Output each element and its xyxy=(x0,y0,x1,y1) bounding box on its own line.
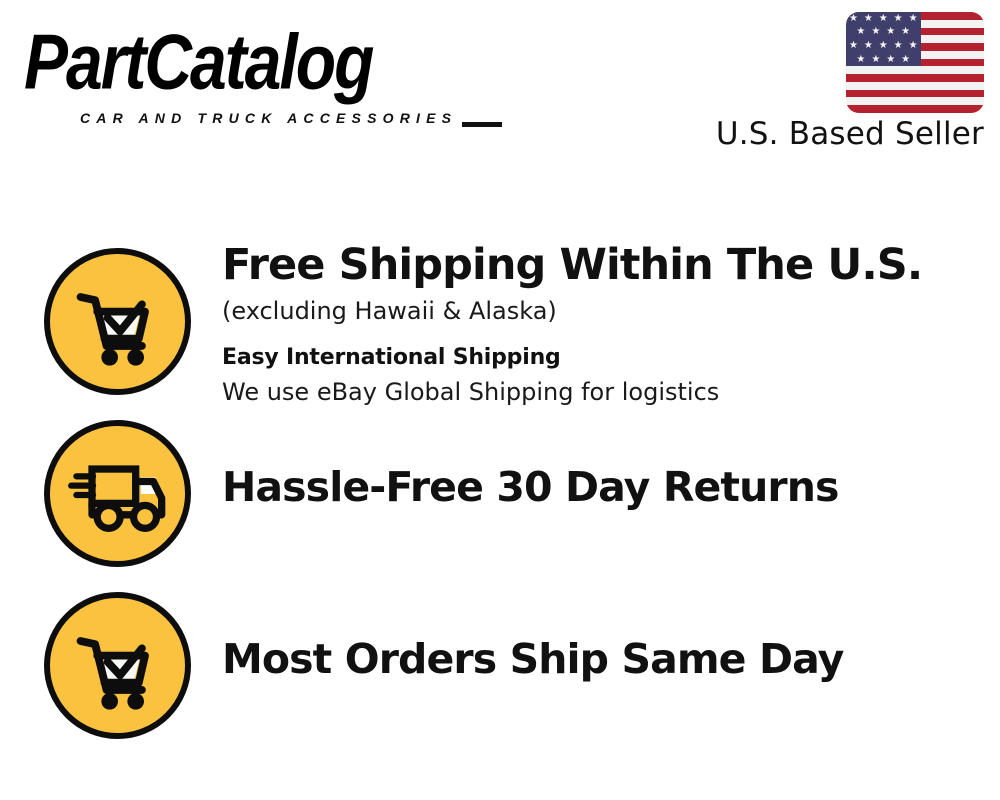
us-based-seller-badge: ★★★★★★★★★★★★★★★★★★ U.S. Based Seller xyxy=(714,12,984,152)
flag-star-icon: ★ xyxy=(886,27,895,37)
feature-subtext: (excluding Hawaii & Alaska) xyxy=(222,294,962,328)
flag-stripe xyxy=(846,66,984,74)
flag-star-icon: ★ xyxy=(894,14,903,24)
feature-heading: Hassle-Free 30 Day Returns xyxy=(222,462,962,512)
flag-star-icon: ★ xyxy=(849,14,858,24)
feature-heading: Most Orders Ship Same Day xyxy=(222,634,962,684)
brand-logo[interactable]: PartCatalog CAR AND TRUCK ACCESSORIES xyxy=(24,20,494,120)
brand-tagline: CAR AND TRUCK ACCESSORIES xyxy=(80,110,457,126)
us-flag-icon: ★★★★★★★★★★★★★★★★★★ xyxy=(846,12,984,113)
feature-subheading-detail: We use eBay Global Shipping for logistic… xyxy=(222,375,962,409)
delivery-truck-icon-badge xyxy=(44,420,191,567)
flag-stripe xyxy=(846,90,984,98)
feature-row: Free Shipping Within The U.S. (excluding… xyxy=(0,236,1000,408)
flag-stripe xyxy=(846,97,984,105)
feature-subheading: Easy International Shipping xyxy=(222,342,962,374)
feature-text-block: Hassle-Free 30 Day Returns xyxy=(222,462,962,512)
brand-tagline-rule xyxy=(462,122,502,127)
feature-text-block: Free Shipping Within The U.S. (excluding… xyxy=(222,238,962,409)
delivery-truck-icon xyxy=(66,442,170,546)
flag-star-icon: ★ xyxy=(879,14,888,24)
flag-star-icon: ★ xyxy=(879,41,888,51)
flag-star-icon: ★ xyxy=(909,41,918,51)
us-based-seller-label: U.S. Based Seller xyxy=(714,116,984,152)
shopping-cart-check-icon-badge xyxy=(44,592,191,739)
feature-text-block: Most Orders Ship Same Day xyxy=(222,634,962,684)
shopping-cart-check-icon-badge xyxy=(44,248,191,395)
flag-star-icon: ★ xyxy=(856,55,865,65)
flag-star-icon: ★ xyxy=(864,41,873,51)
flag-stripe xyxy=(846,74,984,82)
flag-star-icon: ★ xyxy=(856,27,865,37)
flag-stripe xyxy=(846,82,984,90)
shopping-cart-check-icon xyxy=(66,614,170,718)
flag-star-icon: ★ xyxy=(909,14,918,24)
flag-star-icon: ★ xyxy=(849,41,858,51)
flag-star-icon: ★ xyxy=(901,27,910,37)
brand-wordmark: PartCatalog xyxy=(24,20,494,103)
feature-row: Most Orders Ship Same Day xyxy=(0,580,1000,752)
feature-heading: Free Shipping Within The U.S. xyxy=(222,238,962,292)
flag-canton: ★★★★★★★★★★★★★★★★★★ xyxy=(846,12,921,66)
feature-row: Hassle-Free 30 Day Returns xyxy=(0,408,1000,580)
flag-star-icon: ★ xyxy=(901,55,910,65)
shopping-cart-check-icon xyxy=(66,270,170,374)
flag-star-icon: ★ xyxy=(871,27,880,37)
flag-star-icon: ★ xyxy=(894,41,903,51)
flag-star-icon: ★ xyxy=(864,14,873,24)
flag-star-icon: ★ xyxy=(871,55,880,65)
flag-stripe xyxy=(846,105,984,113)
flag-star-icon: ★ xyxy=(886,55,895,65)
